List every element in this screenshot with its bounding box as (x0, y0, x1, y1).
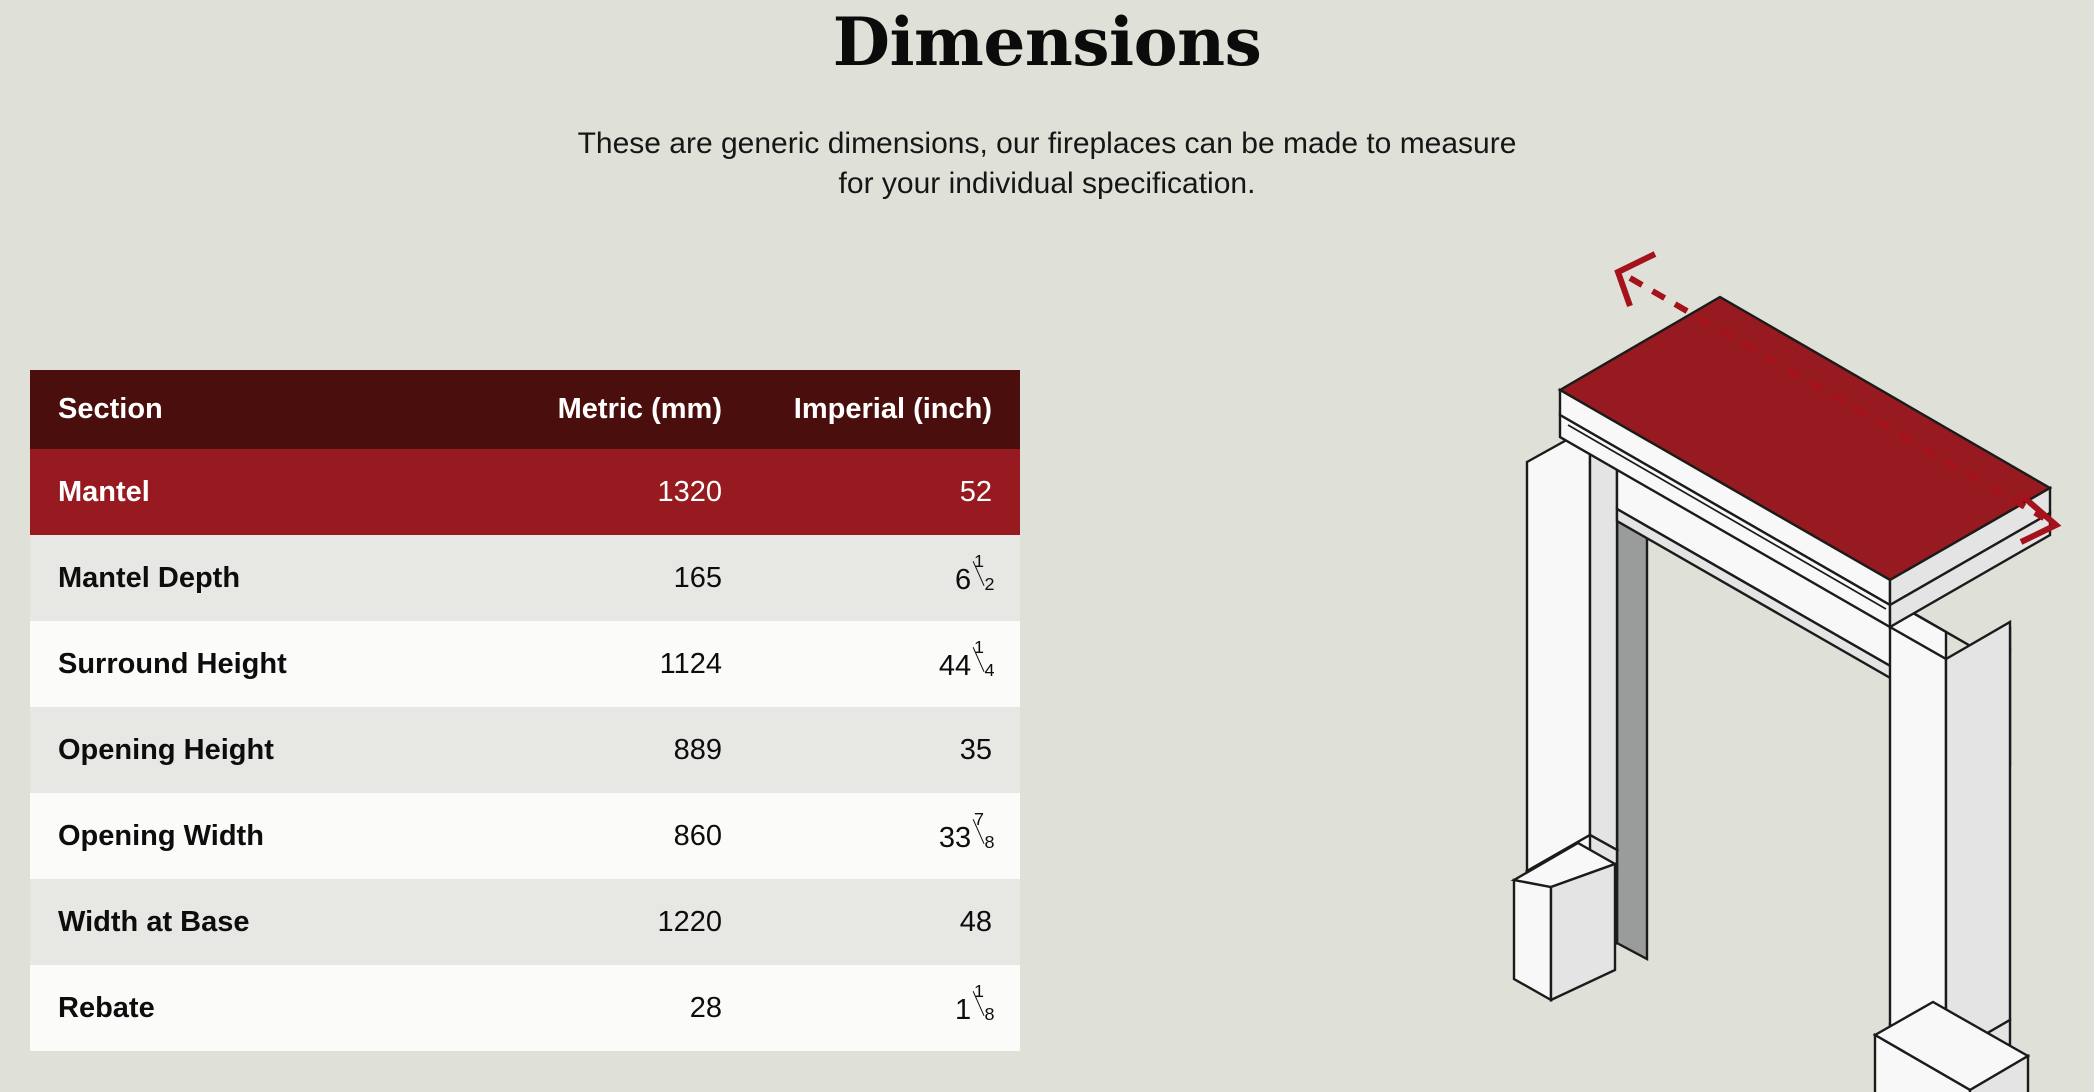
imperial-whole: 52 (960, 476, 992, 508)
table-header: Section Metric (mm) Imperial (inch) (30, 370, 1020, 449)
column-header-section: Section (30, 370, 460, 449)
table-row: Opening Width8603378 (30, 793, 1020, 879)
cell-imperial: 4414 (750, 621, 1020, 707)
imperial-fraction: 12 (974, 560, 992, 589)
cell-imperial: 48 (750, 879, 1020, 965)
table-row: Mantel Depth165612 (30, 535, 1020, 621)
fireplace-diagram-svg: .ln { stroke:#1b1b1b; stroke-width:2.4; … (1450, 230, 2094, 1092)
cell-metric: 165 (460, 535, 750, 621)
table-row: Surround Height11244414 (30, 621, 1020, 707)
left-leg-front (1527, 427, 1617, 871)
table-row: Width at Base122048 (30, 879, 1020, 965)
fraction-denominator: 8 (985, 1005, 995, 1023)
imperial-whole: 44 (939, 650, 971, 682)
cell-metric: 28 (460, 965, 750, 1051)
fireplace-mantel-isometric-diagram: .ln { stroke:#1b1b1b; stroke-width:2.4; … (1450, 230, 2094, 1092)
cell-imperial: 3378 (750, 793, 1020, 879)
table-row: Rebate28118 (30, 965, 1020, 1051)
table-row: Mantel132052 (30, 449, 1020, 535)
table-body: Mantel132052Mantel Depth165612Surround H… (30, 449, 1020, 1051)
cell-section: Opening Height (30, 707, 460, 793)
cell-metric: 1220 (460, 879, 750, 965)
cell-section: Mantel Depth (30, 535, 460, 621)
column-header-metric: Metric (mm) (460, 370, 750, 449)
cell-section: Surround Height (30, 621, 460, 707)
cell-imperial: 118 (750, 965, 1020, 1051)
cell-imperial: 612 (750, 535, 1020, 621)
page-title: Dimensions (0, 6, 2094, 79)
fraction-denominator: 4 (985, 661, 995, 679)
imperial-whole: 35 (960, 734, 992, 766)
dimensions-table: Section Metric (mm) Imperial (inch) Mant… (30, 370, 1020, 1051)
imperial-fraction: 18 (974, 990, 992, 1019)
right-leg (1890, 622, 2010, 1057)
cell-section: Mantel (30, 449, 460, 535)
fraction-denominator: 8 (985, 833, 995, 851)
imperial-whole: 1 (955, 994, 971, 1026)
cell-imperial: 35 (750, 707, 1020, 793)
table-row: Opening Height88935 (30, 707, 1020, 793)
cell-metric: 889 (460, 707, 750, 793)
page-subtitle-line-1: These are generic dimensions, our firepl… (0, 124, 2094, 164)
page-subtitle: These are generic dimensions, our firepl… (0, 124, 2094, 203)
imperial-whole: 6 (955, 564, 971, 596)
imperial-whole: 48 (960, 906, 992, 938)
page-subtitle-line-2: for your individual specification. (0, 164, 2094, 204)
column-header-imperial: Imperial (inch) (750, 370, 1020, 449)
cell-imperial: 52 (750, 449, 1020, 535)
imperial-whole: 33 (939, 822, 971, 854)
cell-metric: 860 (460, 793, 750, 879)
dimensions-page: Dimensions These are generic dimensions,… (0, 0, 2094, 1092)
cell-section: Opening Width (30, 793, 460, 879)
imperial-fraction: 14 (974, 646, 992, 675)
imperial-fraction: 78 (974, 818, 992, 847)
table-header-row: Section Metric (mm) Imperial (inch) (30, 370, 1020, 449)
cell-metric: 1320 (460, 449, 750, 535)
cell-section: Rebate (30, 965, 460, 1051)
cell-section: Width at Base (30, 879, 460, 965)
cell-metric: 1124 (460, 621, 750, 707)
fraction-denominator: 2 (985, 575, 995, 593)
